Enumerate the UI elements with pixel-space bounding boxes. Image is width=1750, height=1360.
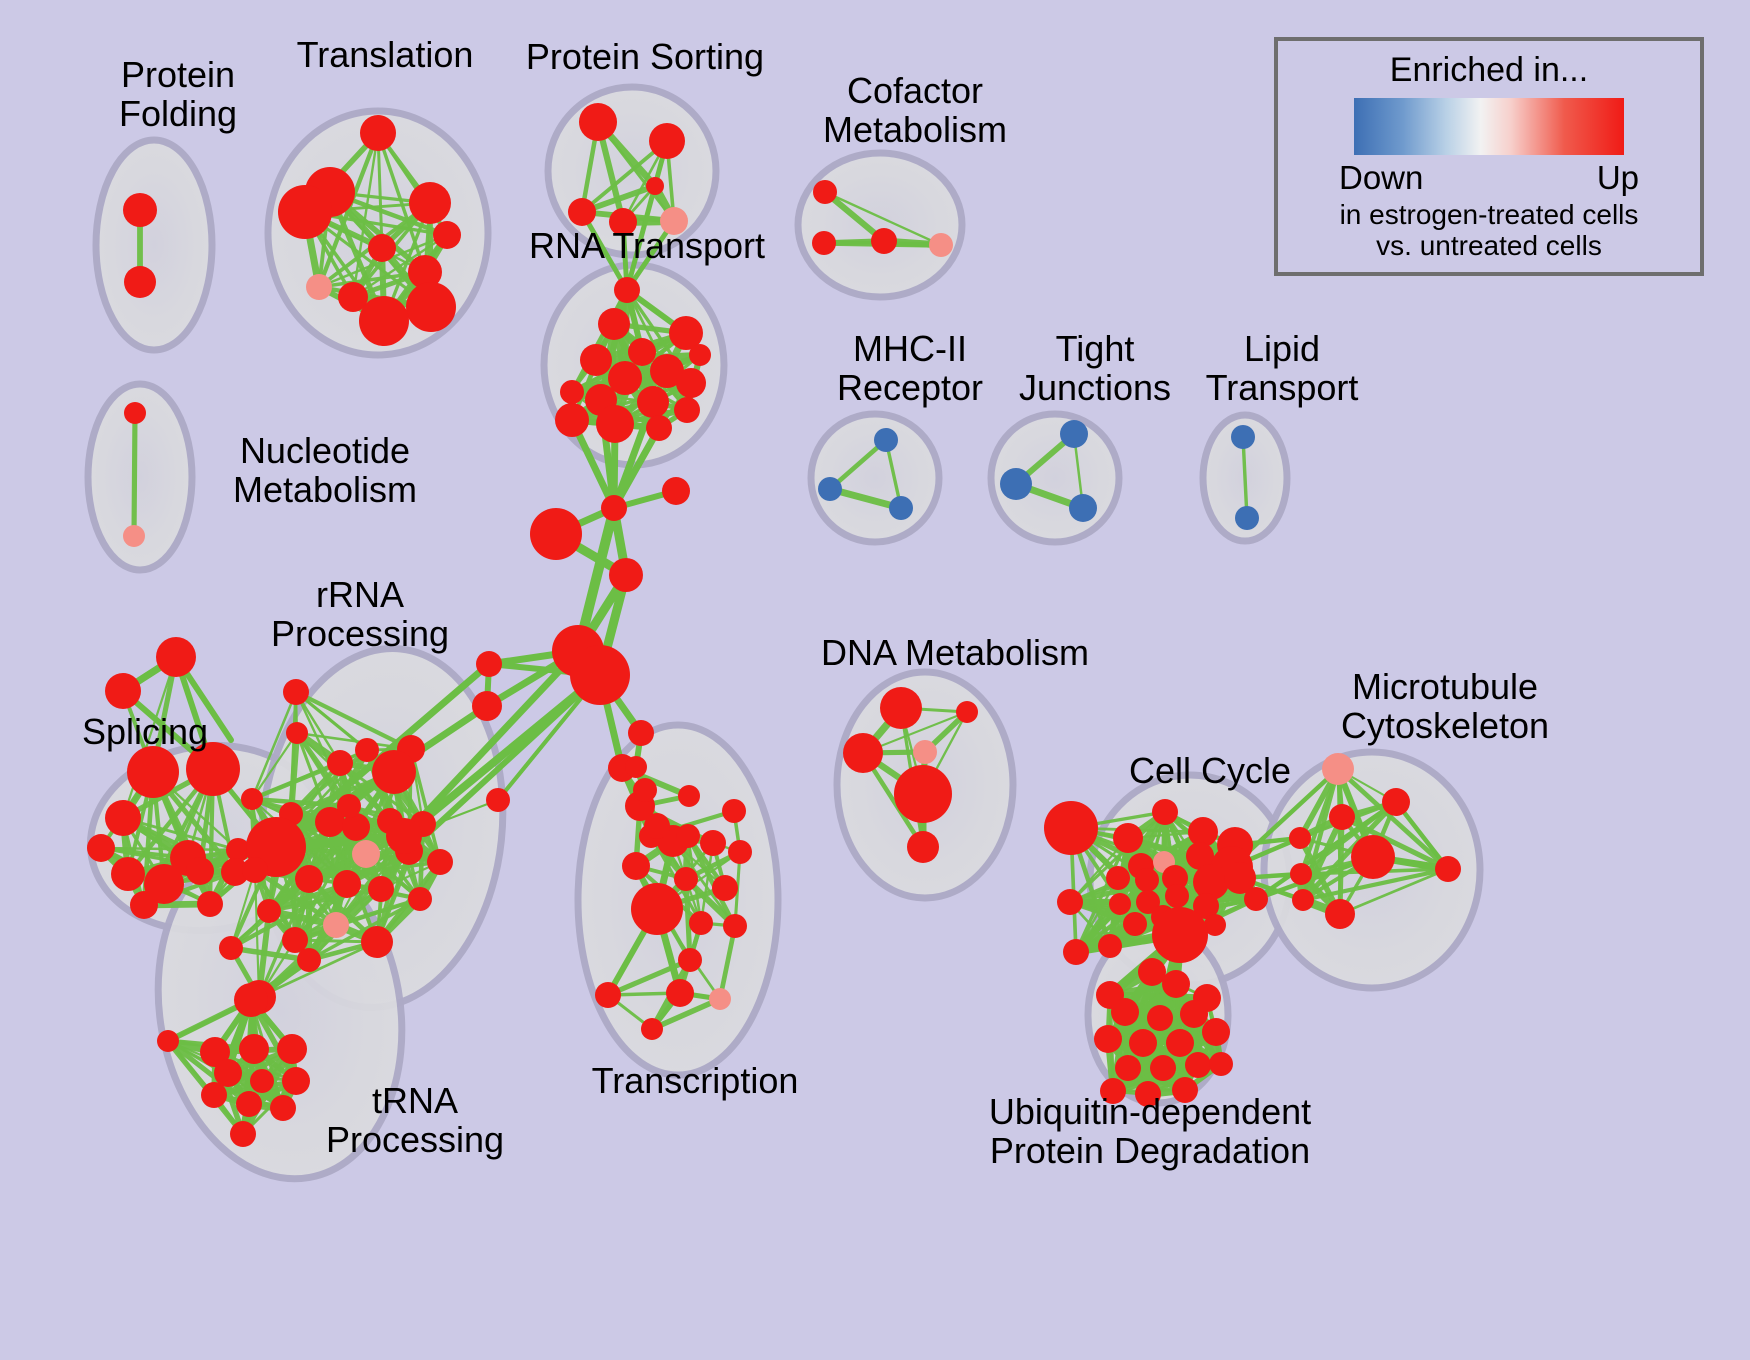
network-node-mhc-ii-receptor[interactable] (818, 477, 842, 501)
network-node-cell-cycle[interactable] (1098, 934, 1122, 958)
network-node-ubiquitin-protein-degradation[interactable] (1115, 1055, 1141, 1081)
network-node-rna-transport[interactable] (689, 344, 711, 366)
network-node-trna-processing[interactable] (277, 1034, 307, 1064)
network-node-cell-cycle[interactable] (1106, 866, 1130, 890)
network-node-trna-processing[interactable] (282, 1067, 310, 1095)
network-node-rna-transport[interactable] (580, 344, 612, 376)
network-node-cofactor-metabolism[interactable] (871, 228, 897, 254)
network-node-cell-cycle[interactable] (1044, 801, 1098, 855)
network-node-protein-sorting[interactable] (609, 208, 637, 236)
network-node-splicing[interactable] (127, 746, 179, 798)
network-node-microtubule-cytoskeleton[interactable] (1292, 889, 1314, 911)
network-node-ubiquitin-protein-degradation[interactable] (1185, 1052, 1211, 1078)
network-node-spine[interactable] (633, 778, 657, 802)
network-node-rrna-processing[interactable] (242, 857, 268, 883)
network-node-splicing[interactable] (156, 637, 196, 677)
legend-up-label: Up (1597, 159, 1639, 197)
network-node-translation[interactable] (306, 274, 332, 300)
network-node-ubiquitin-protein-degradation[interactable] (1202, 1018, 1230, 1046)
network-node-ubiquitin-protein-degradation[interactable] (1111, 998, 1139, 1026)
network-node-spine[interactable] (530, 508, 582, 560)
network-node-rrna-processing[interactable] (386, 818, 422, 854)
network-node-rrna-processing[interactable] (337, 794, 361, 818)
network-node-splicing[interactable] (87, 834, 115, 862)
network-node-cell-cycle[interactable] (1113, 823, 1143, 853)
network-node-ubiquitin-protein-degradation[interactable] (1129, 1029, 1157, 1057)
network-node-rrna-processing[interactable] (355, 738, 379, 762)
network-node-microtubule-cytoskeleton[interactable] (1290, 863, 1312, 885)
network-node-splicing[interactable] (111, 857, 145, 891)
network-node-microtubule-cytoskeleton[interactable] (1325, 899, 1355, 929)
network-node-rrna-processing[interactable] (295, 865, 323, 893)
network-node-rrna-processing[interactable] (361, 926, 393, 958)
network-node-mhc-ii-receptor[interactable] (889, 496, 913, 520)
network-node-translation[interactable] (433, 221, 461, 249)
cluster-hull-protein-folding[interactable] (96, 140, 212, 350)
network-node-trna-processing[interactable] (157, 1030, 179, 1052)
network-node-rna-transport[interactable] (674, 397, 700, 423)
network-node-trna-processing[interactable] (201, 1082, 227, 1108)
network-node-rna-transport[interactable] (598, 308, 630, 340)
network-node-rna-transport[interactable] (596, 405, 634, 443)
network-node-rrna-processing[interactable] (241, 788, 263, 810)
network-node-ubiquitin-protein-degradation[interactable] (1138, 958, 1166, 986)
legend-subtitle-line-1: in estrogen-treated cells (1340, 199, 1639, 230)
network-node-cell-cycle[interactable] (1123, 912, 1147, 936)
network-node-tight-junctions[interactable] (1000, 468, 1032, 500)
cluster-hull-cofactor-metabolism[interactable] (798, 153, 962, 297)
network-node-spine[interactable] (486, 788, 510, 812)
legend-title: Enriched in... (1390, 51, 1588, 90)
network-node-ubiquitin-protein-degradation[interactable] (1135, 1081, 1161, 1107)
network-node-rna-transport[interactable] (646, 415, 672, 441)
network-node-splicing[interactable] (186, 857, 214, 885)
network-node-dna-metabolism[interactable] (880, 687, 922, 729)
network-node-cofactor-metabolism[interactable] (813, 180, 837, 204)
network-node-microtubule-cytoskeleton[interactable] (1382, 788, 1410, 816)
network-node-ubiquitin-protein-degradation[interactable] (1094, 1025, 1122, 1053)
network-node-transcription[interactable] (709, 988, 731, 1010)
network-node-transcription[interactable] (712, 875, 738, 901)
network-node-cell-cycle[interactable] (1057, 889, 1083, 915)
network-node-transcription[interactable] (595, 982, 621, 1008)
network-node-protein-folding[interactable] (123, 193, 157, 227)
network-node-translation[interactable] (278, 185, 332, 239)
network-node-rrna-processing[interactable] (368, 876, 394, 902)
network-node-transcription[interactable] (676, 824, 700, 848)
legend-down-label: Down (1339, 159, 1423, 197)
network-node-trna-processing[interactable] (236, 1091, 262, 1117)
cluster-hulls (78, 87, 1480, 1198)
network-node-trna-processing[interactable] (230, 1121, 256, 1147)
network-node-rrna-processing[interactable] (372, 750, 416, 794)
network-node-ubiquitin-protein-degradation[interactable] (1147, 1005, 1173, 1031)
network-node-rna-transport[interactable] (555, 403, 589, 437)
network-node-microtubule-cytoskeleton[interactable] (1351, 835, 1395, 879)
network-node-dna-metabolism[interactable] (956, 701, 978, 723)
network-node-cell-cycle[interactable] (1165, 884, 1189, 908)
network-node-dna-metabolism[interactable] (907, 831, 939, 863)
network-node-rna-transport[interactable] (676, 368, 706, 398)
network-node-protein-sorting[interactable] (646, 177, 664, 195)
network-node-tight-junctions[interactable] (1060, 420, 1088, 448)
network-node-ubiquitin-protein-degradation[interactable] (1150, 1055, 1176, 1081)
network-node-transcription[interactable] (678, 785, 700, 807)
network-node-microtubule-cytoskeleton[interactable] (1435, 856, 1461, 882)
network-node-trna-processing[interactable] (250, 1069, 274, 1093)
legend-panel: Enriched in... Down Up in estrogen-treat… (1274, 37, 1704, 276)
network-node-cell-cycle[interactable] (1152, 799, 1178, 825)
network-node-spine[interactable] (625, 756, 647, 778)
network-node-translation[interactable] (409, 182, 451, 224)
network-node-protein-folding[interactable] (124, 266, 156, 298)
network-node-splicing[interactable] (105, 800, 141, 836)
network-node-splicing[interactable] (105, 673, 141, 709)
network-node-rrna-processing[interactable] (408, 887, 432, 911)
network-node-spine[interactable] (570, 645, 630, 705)
network-node-microtubule-cytoskeleton[interactable] (1329, 804, 1355, 830)
network-node-rna-transport[interactable] (637, 386, 669, 418)
network-node-rna-transport[interactable] (614, 277, 640, 303)
network-node-rrna-processing[interactable] (257, 899, 281, 923)
legend-subtitle-line-2: vs. untreated cells (1340, 230, 1639, 261)
network-node-rrna-processing[interactable] (352, 840, 380, 868)
network-node-rrna-processing[interactable] (286, 722, 308, 744)
network-node-microtubule-cytoskeleton[interactable] (1322, 753, 1354, 785)
network-node-rrna-processing[interactable] (323, 912, 349, 938)
network-node-transcription[interactable] (728, 840, 752, 864)
network-node-lipid-transport[interactable] (1231, 425, 1255, 449)
network-node-translation[interactable] (359, 296, 409, 346)
network-node-cell-cycle[interactable] (1244, 887, 1268, 911)
network-node-ubiquitin-protein-degradation[interactable] (1166, 1029, 1194, 1057)
network-node-translation[interactable] (368, 234, 396, 262)
network-node-splicing[interactable] (130, 891, 158, 919)
network-node-cell-cycle[interactable] (1109, 893, 1131, 915)
network-node-spine[interactable] (644, 813, 670, 839)
network-node-transcription[interactable] (700, 830, 726, 856)
legend-color-gradient (1354, 98, 1624, 155)
network-node-ubiquitin-protein-degradation[interactable] (1172, 1077, 1198, 1103)
network-node-spine[interactable] (472, 691, 502, 721)
network-node-trna-processing[interactable] (234, 983, 268, 1017)
network-node-microtubule-cytoskeleton[interactable] (1289, 827, 1311, 849)
network-node-cofactor-metabolism[interactable] (929, 233, 953, 257)
network-node-splicing[interactable] (197, 891, 223, 917)
network-node-cofactor-metabolism[interactable] (812, 231, 836, 255)
legend-subtitle: in estrogen-treated cells vs. untreated … (1340, 199, 1639, 262)
network-node-mhc-ii-receptor[interactable] (874, 428, 898, 452)
network-node-rna-transport[interactable] (560, 380, 584, 404)
network-node-cell-cycle[interactable] (1152, 907, 1208, 963)
network-node-ubiquitin-protein-degradation[interactable] (1180, 1000, 1208, 1028)
network-node-ubiquitin-protein-degradation[interactable] (1100, 1078, 1126, 1104)
network-node-tight-junctions[interactable] (1069, 494, 1097, 522)
network-node-translation[interactable] (406, 282, 456, 332)
network-node-spine[interactable] (601, 495, 627, 521)
network-node-transcription[interactable] (722, 799, 746, 823)
network-node-cell-cycle[interactable] (1135, 868, 1159, 892)
network-node-rna-transport[interactable] (628, 338, 656, 366)
network-node-spine[interactable] (476, 651, 502, 677)
network-node-rrna-processing[interactable] (333, 870, 361, 898)
network-node-protein-sorting[interactable] (579, 103, 617, 141)
network-node-transcription[interactable] (689, 911, 713, 935)
network-node-rrna-processing[interactable] (219, 936, 243, 960)
network-node-trna-processing[interactable] (270, 1095, 296, 1121)
network-node-protein-sorting[interactable] (568, 198, 596, 226)
network-edge (134, 413, 135, 536)
network-node-cell-cycle[interactable] (1063, 939, 1089, 965)
network-node-ubiquitin-protein-degradation[interactable] (1162, 970, 1190, 998)
network-node-dna-metabolism[interactable] (913, 740, 937, 764)
network-node-lipid-transport[interactable] (1235, 506, 1259, 530)
network-node-spine[interactable] (628, 720, 654, 746)
network-node-spine[interactable] (609, 558, 643, 592)
network-node-transcription[interactable] (622, 852, 650, 880)
network-node-splicing[interactable] (186, 742, 240, 796)
network-node-transcription[interactable] (674, 867, 698, 891)
network-node-transcription[interactable] (678, 948, 702, 972)
network-node-protein-sorting[interactable] (649, 123, 685, 159)
network-node-trna-processing[interactable] (239, 1034, 269, 1064)
network-node-rrna-processing[interactable] (283, 679, 309, 705)
network-node-rrna-processing[interactable] (327, 750, 353, 776)
network-node-translation[interactable] (360, 115, 396, 151)
network-node-transcription[interactable] (631, 883, 683, 935)
network-node-nucleotide-metabolism[interactable] (123, 525, 145, 547)
network-node-dna-metabolism[interactable] (843, 733, 883, 773)
enrichment-map-figure: Protein FoldingTranslationNucleotide Met… (0, 0, 1750, 1360)
network-node-rrna-processing[interactable] (297, 948, 321, 972)
legend-endpoint-labels: Down Up (1339, 159, 1639, 197)
network-node-spine[interactable] (662, 477, 690, 505)
network-node-nucleotide-metabolism[interactable] (124, 402, 146, 424)
network-node-transcription[interactable] (641, 1018, 663, 1040)
network-node-transcription[interactable] (666, 979, 694, 1007)
network-node-ubiquitin-protein-degradation[interactable] (1209, 1052, 1233, 1076)
network-node-protein-sorting[interactable] (660, 207, 688, 235)
network-node-dna-metabolism[interactable] (894, 765, 952, 823)
network-node-transcription[interactable] (723, 914, 747, 938)
network-node-rrna-processing[interactable] (427, 849, 453, 875)
